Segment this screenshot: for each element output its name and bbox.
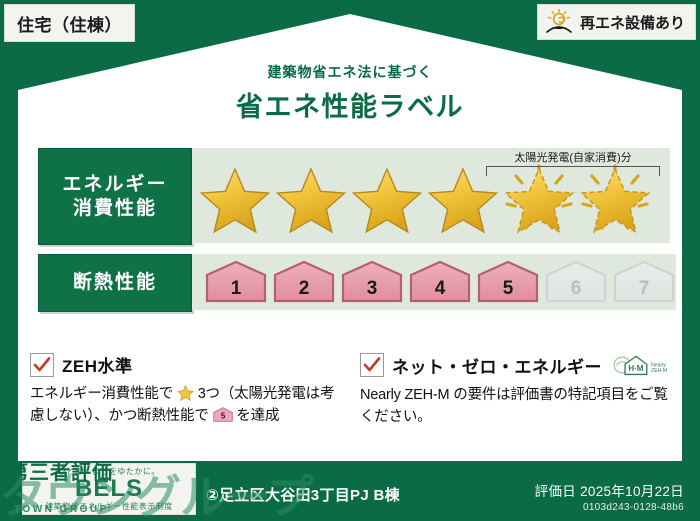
insulation-levels-area: 1234567 xyxy=(192,254,676,310)
building-type-tag: 住宅（住棟） xyxy=(4,4,135,42)
insulation-label: 断熱性能 xyxy=(73,271,157,295)
svg-text:4: 4 xyxy=(435,278,446,299)
ratings-section: エネルギー 消費性能 太陽光発電(自家消費)分 断熱性能 1234567 xyxy=(38,148,670,321)
net-zero-checkbox xyxy=(360,353,384,377)
zehm-logo-mark: H·M xyxy=(628,364,643,373)
zeh-note-header: ZEH水準 xyxy=(30,352,344,377)
insulation-performance-row: 断熱性能 1234567 xyxy=(38,254,670,312)
svg-text:7: 7 xyxy=(639,278,650,299)
zeh-note-title: ZEH水準 xyxy=(62,352,133,377)
label-footer: ひと息、まちをゆたかに。 BELS 建築物省エネルギー性能表示制度 ②足立区大谷… xyxy=(0,459,700,521)
insulation-level-achieved: 5 xyxy=(476,260,540,304)
energy-performance-label-box: エネルギー 消費性能 xyxy=(38,148,192,245)
renewable-energy-badge: 再エネ設備あり xyxy=(537,4,696,40)
insulation-level-list: 1234567 xyxy=(198,260,676,304)
insulation-level-achieved: 1 xyxy=(204,260,268,304)
svg-text:1: 1 xyxy=(231,278,242,299)
property-name: ②足立区大谷田3丁目PJ B棟 xyxy=(206,484,400,505)
zeh-note: ZEH水準 エネルギー消費性能で 3つ（太陽光発電は考慮しない）、かつ断熱性能で… xyxy=(30,352,344,429)
evaluation-date: 評価日 2025年10月22日 xyxy=(535,480,684,500)
sun-solar-icon xyxy=(544,8,574,36)
zeh-body-part1: エネルギー消費性能で xyxy=(30,386,173,402)
evaluation-id: 0103d243-0128-48b6 xyxy=(535,502,684,513)
solar-bracket xyxy=(486,166,660,176)
energy-performance-row: エネルギー 消費性能 太陽光発電(自家消費)分 xyxy=(38,148,670,245)
title-subtitle: 建築物省エネ法に基づく xyxy=(0,62,700,82)
solar-annotation-label: 太陽光発電(自家消費)分 xyxy=(480,152,666,164)
criteria-notes: ZEH水準 エネルギー消費性能で 3つ（太陽光発電は考慮しない）、かつ断熱性能で… xyxy=(30,352,674,429)
svg-text:5: 5 xyxy=(503,278,514,299)
zeh-note-body: エネルギー消費性能で 3つ（太陽光発電は考慮しない）、かつ断熱性能で 5 を達成 xyxy=(30,384,344,428)
energy-performance-label: 住宅（住棟） 再エネ設備あり 建築物省エネ法に基づく 省エネ性能ラベル xyxy=(0,0,700,521)
third-party-evaluation-label: 第三者評価 xyxy=(8,456,113,485)
insulation-level-empty: 7 xyxy=(612,260,676,304)
insulation-label-box: 断熱性能 xyxy=(38,254,192,312)
svg-text:6: 6 xyxy=(571,278,582,299)
building-type-label: 住宅（住棟） xyxy=(17,11,122,36)
net-zero-note-body: Nearly ZEH-M の要件は評価書の特記項目をご覧ください。 xyxy=(360,385,674,429)
check-icon xyxy=(363,356,381,374)
star-filled-icon xyxy=(274,164,348,234)
page-title: 省エネ性能ラベル xyxy=(0,85,700,124)
renewable-badge-label: 再エネ設備あり xyxy=(580,12,685,33)
nearly-zeh-m-logo-icon: H·M Nearly ZEH·M xyxy=(612,352,670,378)
insulation-level-achieved: 3 xyxy=(340,260,404,304)
net-zero-note: ネット・ゼロ・エネルギー H·M Nearly ZEH·M Nearly ZEH… xyxy=(360,352,674,429)
star-filled-icon xyxy=(350,164,424,234)
zeh-body-part3: を達成 xyxy=(236,408,279,424)
title-block: 建築物省エネ法に基づく 省エネ性能ラベル xyxy=(0,62,700,124)
energy-label-line1: エネルギー xyxy=(62,173,167,197)
evaluation-info: 評価日 2025年10月22日 0103d243-0128-48b6 xyxy=(535,480,684,513)
energy-stars-area: 太陽光発電(自家消費)分 xyxy=(192,148,670,243)
check-icon xyxy=(33,356,51,374)
net-zero-note-title: ネット・ゼロ・エネルギー xyxy=(392,353,602,378)
svg-text:2: 2 xyxy=(299,278,310,299)
svg-text:3: 3 xyxy=(367,278,378,299)
insulation-level-achieved: 2 xyxy=(272,260,336,304)
energy-label-line2: 消費性能 xyxy=(73,197,157,221)
zehm-logo-caption2: ZEH·M xyxy=(651,368,667,374)
zeh-checkbox xyxy=(30,353,54,377)
watermark-town-group: TOWN GROUP xyxy=(14,504,109,515)
solar-annotation: 太陽光発電(自家消費)分 xyxy=(480,152,666,176)
insulation-level-icon: 5 xyxy=(213,407,233,422)
star-filled-icon xyxy=(198,164,272,234)
net-zero-note-header: ネット・ゼロ・エネルギー H·M Nearly ZEH·M xyxy=(360,352,674,378)
star-icon xyxy=(177,385,194,401)
insulation-level-empty: 6 xyxy=(544,260,608,304)
insulation-level-achieved: 4 xyxy=(408,260,472,304)
